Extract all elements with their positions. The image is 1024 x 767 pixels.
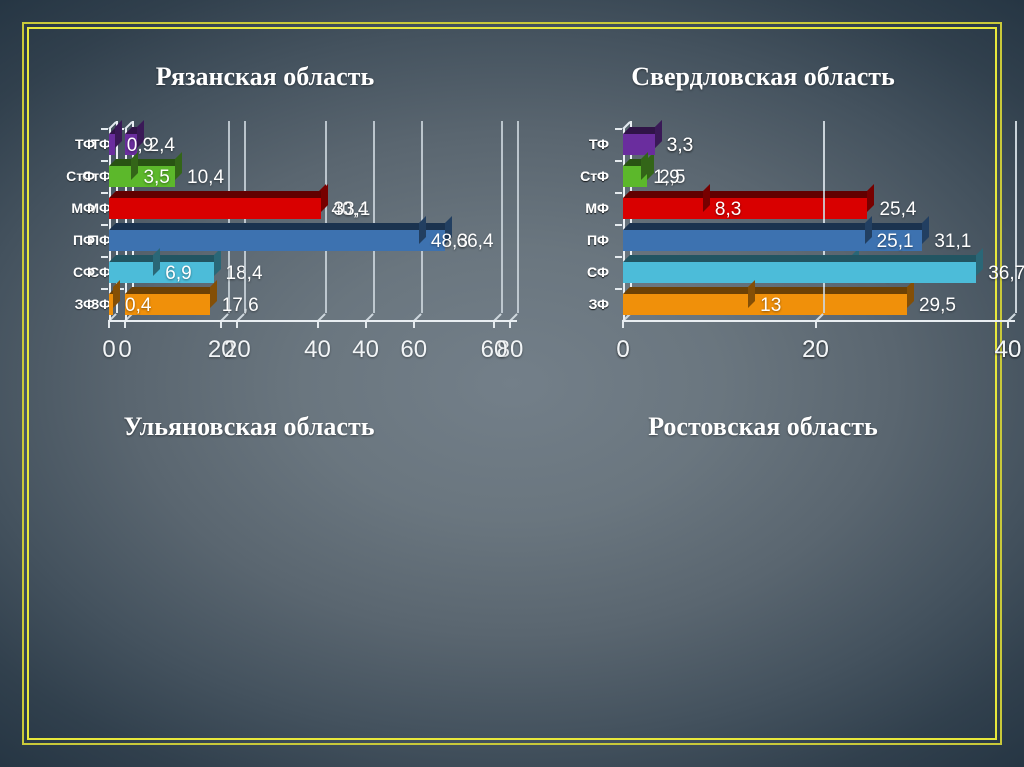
x-tick-label: 40 bbox=[304, 336, 331, 364]
category-label-МФ: МФ bbox=[549, 200, 609, 216]
charts-grid: Рязанская область020406080ТФ2,4СтФ10,4МФ… bbox=[0, 0, 1024, 767]
bar-side-face bbox=[419, 216, 426, 244]
bar-side-face bbox=[865, 216, 872, 244]
x-axis bbox=[623, 320, 1015, 322]
category-label-СФ: СФ bbox=[549, 264, 609, 280]
bar-ЗФ[interactable] bbox=[623, 294, 748, 315]
category-label-ТФ: ТФ bbox=[549, 136, 609, 152]
bar-front-face bbox=[623, 134, 655, 155]
bar-side-face bbox=[131, 152, 138, 180]
bar-СФ[interactable] bbox=[109, 262, 153, 283]
bar-top-face bbox=[623, 287, 755, 294]
bar-top-face bbox=[623, 255, 983, 262]
y-tick bbox=[101, 256, 108, 258]
chart-title: Рязанская область bbox=[30, 62, 500, 92]
x-tick-label: 60 bbox=[481, 336, 508, 364]
bar-side-face bbox=[641, 152, 648, 180]
x-tick-label: 20 bbox=[224, 336, 251, 364]
y-tick bbox=[615, 192, 622, 194]
bar-top-face bbox=[109, 191, 328, 198]
y-tick bbox=[101, 288, 108, 290]
bar-ПФ[interactable] bbox=[109, 230, 419, 251]
bar-front-face bbox=[623, 166, 641, 187]
y-tick bbox=[101, 192, 108, 194]
y-tick bbox=[615, 128, 622, 130]
x-tick-label: 0 bbox=[118, 336, 131, 364]
y-tick bbox=[101, 224, 108, 226]
bar-side-face bbox=[703, 184, 710, 212]
bar-СтФ[interactable] bbox=[109, 166, 131, 187]
value-label-ЗФ: 0,4 bbox=[125, 295, 151, 317]
y-tick bbox=[615, 160, 622, 162]
bar-side-face bbox=[748, 280, 755, 308]
bar-МФ[interactable] bbox=[109, 198, 321, 219]
value-label-СФ: 6,9 bbox=[165, 263, 191, 285]
gridline-back bbox=[373, 121, 375, 313]
bar-ПФ[interactable] bbox=[623, 230, 865, 251]
bar-СтФ[interactable] bbox=[623, 166, 641, 187]
gridline-back bbox=[501, 121, 503, 313]
bar-side-face bbox=[976, 248, 983, 276]
bar-side-face bbox=[321, 184, 328, 212]
category-label-ТФ: ТФ bbox=[35, 136, 95, 152]
bar-front-face bbox=[109, 294, 113, 315]
gridline-back bbox=[823, 121, 825, 313]
bar-top-face bbox=[623, 223, 872, 230]
bar-side-face bbox=[153, 248, 160, 276]
y-tick bbox=[615, 224, 622, 226]
y-tick bbox=[101, 160, 108, 162]
bar-ЗФ[interactable] bbox=[109, 294, 113, 315]
y-tick bbox=[101, 128, 108, 130]
bar-front-face bbox=[109, 262, 153, 283]
value-label-МФ: 33,1 bbox=[333, 199, 370, 221]
value-label-ЗФ: 13 bbox=[760, 295, 781, 317]
x-tick-label: 0 bbox=[102, 336, 115, 364]
category-label-МФ: МФ bbox=[35, 200, 95, 216]
bar-front-face bbox=[623, 230, 865, 251]
value-label-СтФ: 3,5 bbox=[143, 167, 169, 189]
bar-top-face bbox=[623, 191, 710, 198]
bar-front-face bbox=[623, 262, 976, 283]
x-tick-label: 60 bbox=[400, 336, 427, 364]
category-label-ЗФ: ЗФ bbox=[35, 296, 95, 312]
category-label-СтФ: СтФ bbox=[549, 168, 609, 184]
bar-top-face bbox=[109, 223, 426, 230]
category-label-ЗФ: ЗФ bbox=[549, 296, 609, 312]
y-tick bbox=[615, 256, 622, 258]
plot-area: 02040ТФ3,3СтФ1,9МФ8,3ПФ25,1СФ36,7ЗФ13 bbox=[623, 128, 1008, 320]
bar-СФ[interactable] bbox=[623, 262, 976, 283]
bar-front-face bbox=[623, 294, 748, 315]
bar-ТФ[interactable] bbox=[623, 134, 655, 155]
bar-МФ[interactable] bbox=[623, 198, 703, 219]
value-label-СФ: 36,7 bbox=[988, 263, 1024, 285]
bar-front-face bbox=[109, 166, 131, 187]
bar-front-face bbox=[109, 230, 419, 251]
bar-front-face bbox=[109, 198, 321, 219]
bar-side-face bbox=[113, 280, 120, 308]
x-tick-label: 0 bbox=[616, 336, 629, 364]
value-label-ПФ: 25,1 bbox=[877, 231, 914, 253]
value-label-МФ: 8,3 bbox=[715, 199, 741, 221]
y-tick bbox=[615, 288, 622, 290]
bar-ТФ[interactable] bbox=[109, 134, 115, 155]
chart-3: Ульяновская область0204060ТФ0,9СтФ3,5МФ3… bbox=[14, 412, 484, 712]
bar-front-face bbox=[623, 198, 703, 219]
value-label-ТФ: 0,9 bbox=[127, 135, 153, 157]
bar-front-face bbox=[109, 134, 115, 155]
category-label-СФ: СФ bbox=[35, 264, 95, 280]
chart-4: Ростовская область02040ТФ3,3СтФ1,9МФ8,3П… bbox=[528, 412, 998, 712]
x-tick-label: 20 bbox=[802, 336, 829, 364]
slide-canvas: Рязанская область020406080ТФ2,4СтФ10,4МФ… bbox=[0, 0, 1024, 767]
chart-title: Свердловская область bbox=[528, 62, 998, 92]
x-axis bbox=[109, 320, 501, 322]
category-label-СтФ: СтФ bbox=[35, 168, 95, 184]
x-tick-label: 40 bbox=[352, 336, 379, 364]
plot-area: 0204060ТФ0,9СтФ3,5МФ33,1ПФ48,3СФ6,9ЗФ0,4 bbox=[109, 128, 494, 320]
category-label-ПФ: ПФ bbox=[35, 232, 95, 248]
x-tick-label: 40 bbox=[995, 336, 1022, 364]
chart-title: Ульяновская область bbox=[14, 412, 484, 442]
value-label-СтФ: 1,9 bbox=[653, 167, 679, 189]
gridline-back bbox=[517, 121, 519, 313]
value-label-ТФ: 3,3 bbox=[667, 135, 693, 157]
chart-title: Ростовская область bbox=[528, 412, 998, 442]
category-label-ПФ: ПФ bbox=[549, 232, 609, 248]
value-label-ПФ: 48,3 bbox=[431, 231, 468, 253]
